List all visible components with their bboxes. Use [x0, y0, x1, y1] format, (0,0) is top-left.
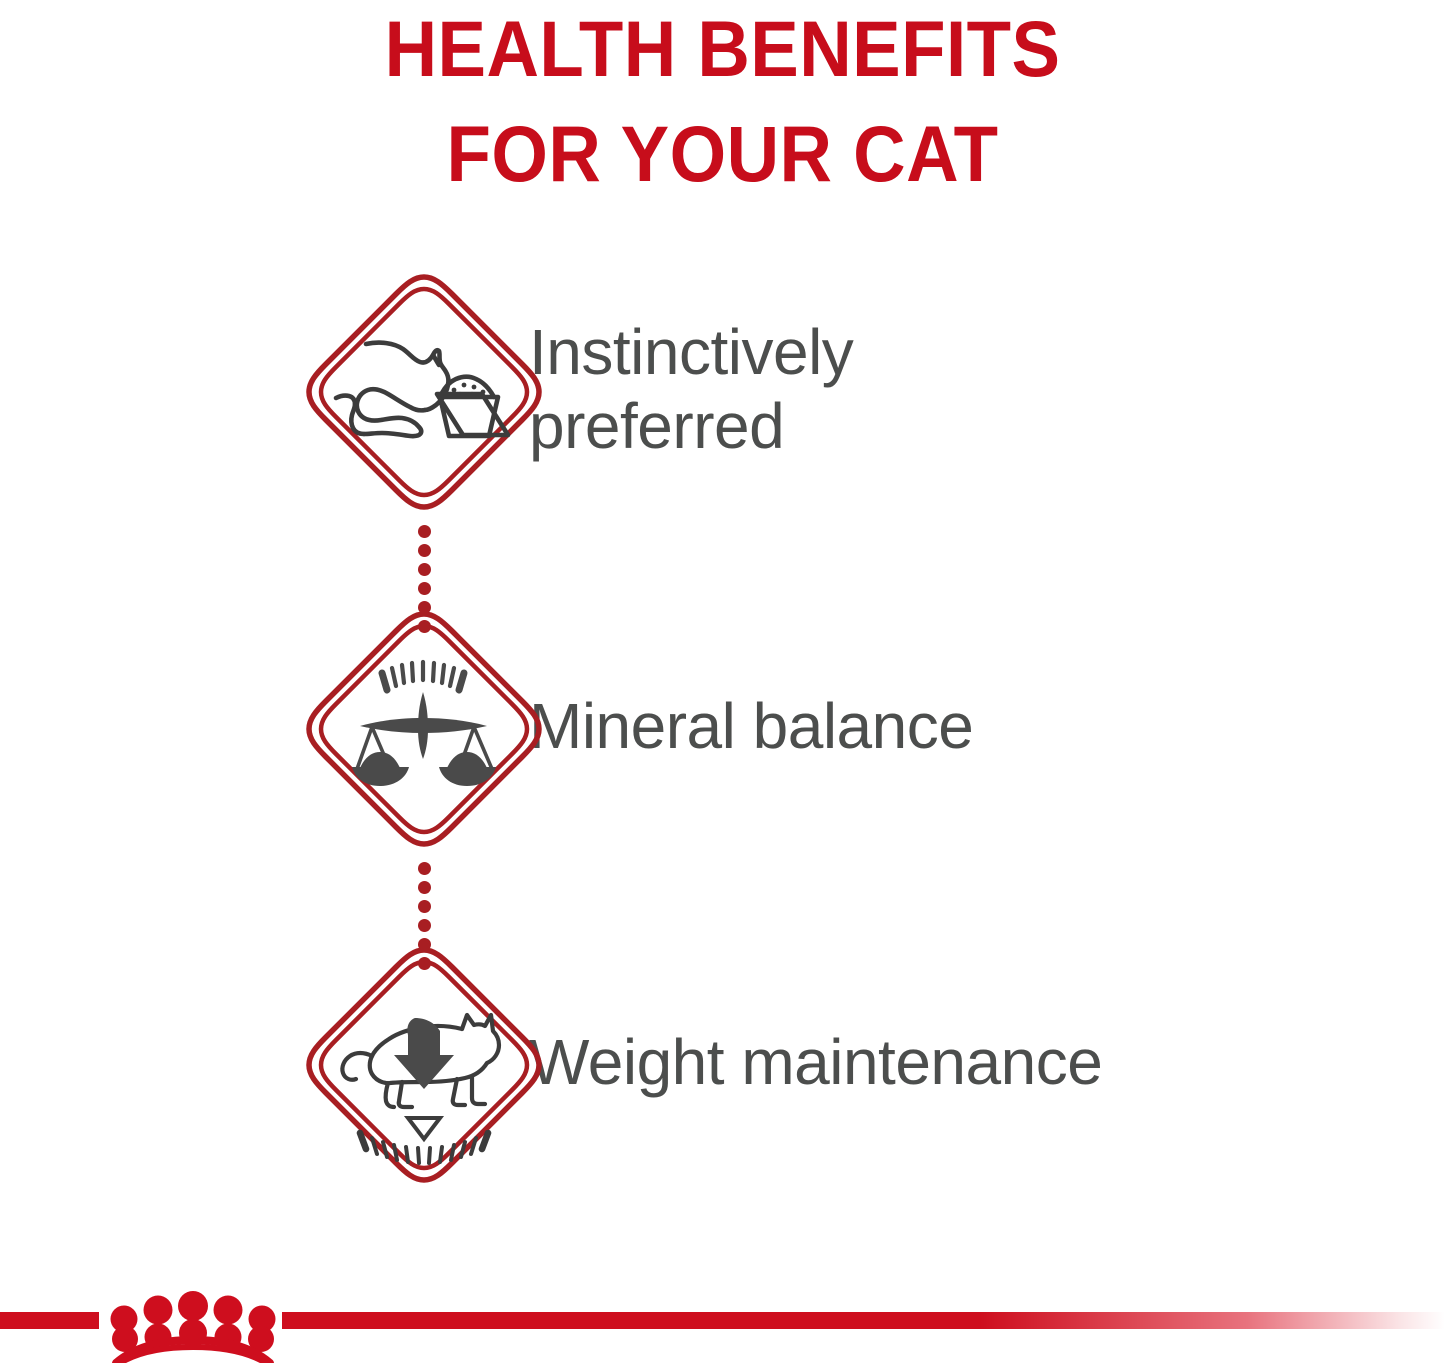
connector-dot [418, 620, 431, 633]
connector-dots-2 [418, 862, 432, 970]
connector-dot [418, 582, 431, 595]
benefit-icon-cell-2 [0, 607, 535, 847]
connector-dots-1 [418, 525, 432, 633]
benefit-label-2: Mineral balance [529, 690, 973, 764]
benefit-icon-cell-3 [0, 943, 535, 1183]
connector-dot [418, 919, 431, 932]
cat-eating-from-bowl-icon [302, 270, 546, 514]
connector-dot [418, 900, 431, 913]
benefit-item-mineral-balance: Mineral balance [0, 607, 1445, 847]
cat-weight-scale-icon [302, 943, 546, 1187]
page-title-line-1: HEALTH BENEFITS [58, 0, 1387, 101]
connector-dot [418, 938, 431, 951]
balance-scale-icon [302, 607, 546, 851]
page-title-line-2: FOR YOUR CAT [58, 101, 1387, 206]
footer-rule-left [0, 1312, 99, 1329]
connector-dot [418, 601, 431, 614]
connector-dot [418, 525, 431, 538]
connector-dot [418, 881, 431, 894]
health-benefits-infographic: HEALTH BENEFITS FOR YOUR CAT [0, 0, 1445, 1363]
connector-dot [418, 862, 431, 875]
benefit-icon-cell-1 [0, 270, 535, 510]
benefit-item-weight-maintenance: Weight maintenance [0, 943, 1445, 1183]
page-title: HEALTH BENEFITS FOR YOUR CAT [58, 0, 1387, 206]
footer-rule-right [282, 1312, 1445, 1329]
footer [0, 1292, 1445, 1363]
connector-dot [418, 544, 431, 557]
benefit-label-1: Instinctively preferred [529, 316, 853, 463]
royal-canin-crown-icon [100, 1286, 286, 1363]
connector-dot [418, 563, 431, 576]
connector-dot [418, 957, 431, 970]
benefit-item-instinctively-preferred: Instinctively preferred [0, 270, 1445, 510]
benefit-label-3: Weight maintenance [529, 1026, 1102, 1100]
